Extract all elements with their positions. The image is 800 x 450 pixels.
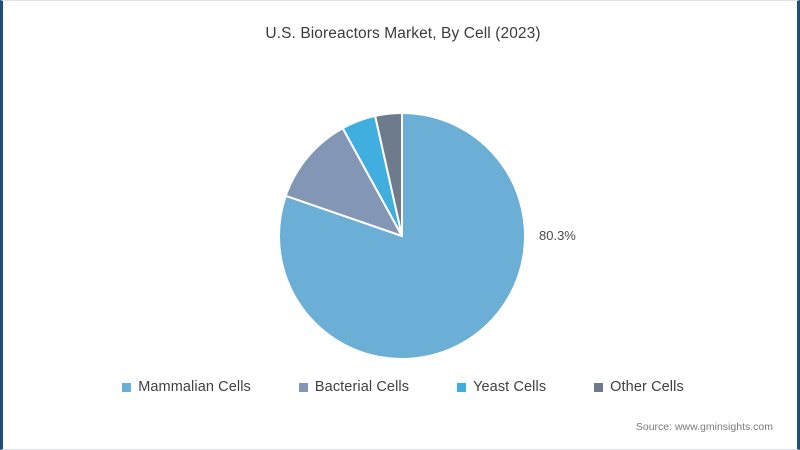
source-note: Source: www.gminsights.com	[636, 421, 773, 433]
legend-item-yeast-cells[interactable]: Yeast Cells	[457, 379, 546, 395]
legend-label-mammalian-cells: Mammalian Cells	[138, 379, 251, 395]
legend-item-bacterial-cells[interactable]: Bacterial Cells	[299, 379, 409, 395]
chart-legend: Mammalian Cells Bacterial Cells Yeast Ce…	[3, 379, 800, 395]
legend-label-other-cells: Other Cells	[610, 379, 684, 395]
legend-swatch-icon-yeast-cells	[457, 383, 466, 392]
legend-swatch-icon-bacterial-cells	[299, 383, 308, 392]
legend-label-bacterial-cells: Bacterial Cells	[315, 379, 409, 395]
chart-card: U.S. Bioreactors Market, By Cell (2023) …	[0, 0, 800, 450]
legend-item-other-cells[interactable]: Other Cells	[594, 379, 684, 395]
pie-slice-group	[279, 113, 525, 359]
legend-swatch-icon-mammalian-cells	[122, 383, 131, 392]
pie-chart-svg	[277, 111, 527, 361]
pie-value-label-mammalian-cells: 80.3%	[539, 228, 576, 243]
legend-swatch-icon-other-cells	[594, 383, 603, 392]
pie-chart-area: 80.3%	[3, 1, 800, 371]
legend-label-yeast-cells: Yeast Cells	[473, 379, 546, 395]
legend-item-mammalian-cells[interactable]: Mammalian Cells	[122, 379, 251, 395]
